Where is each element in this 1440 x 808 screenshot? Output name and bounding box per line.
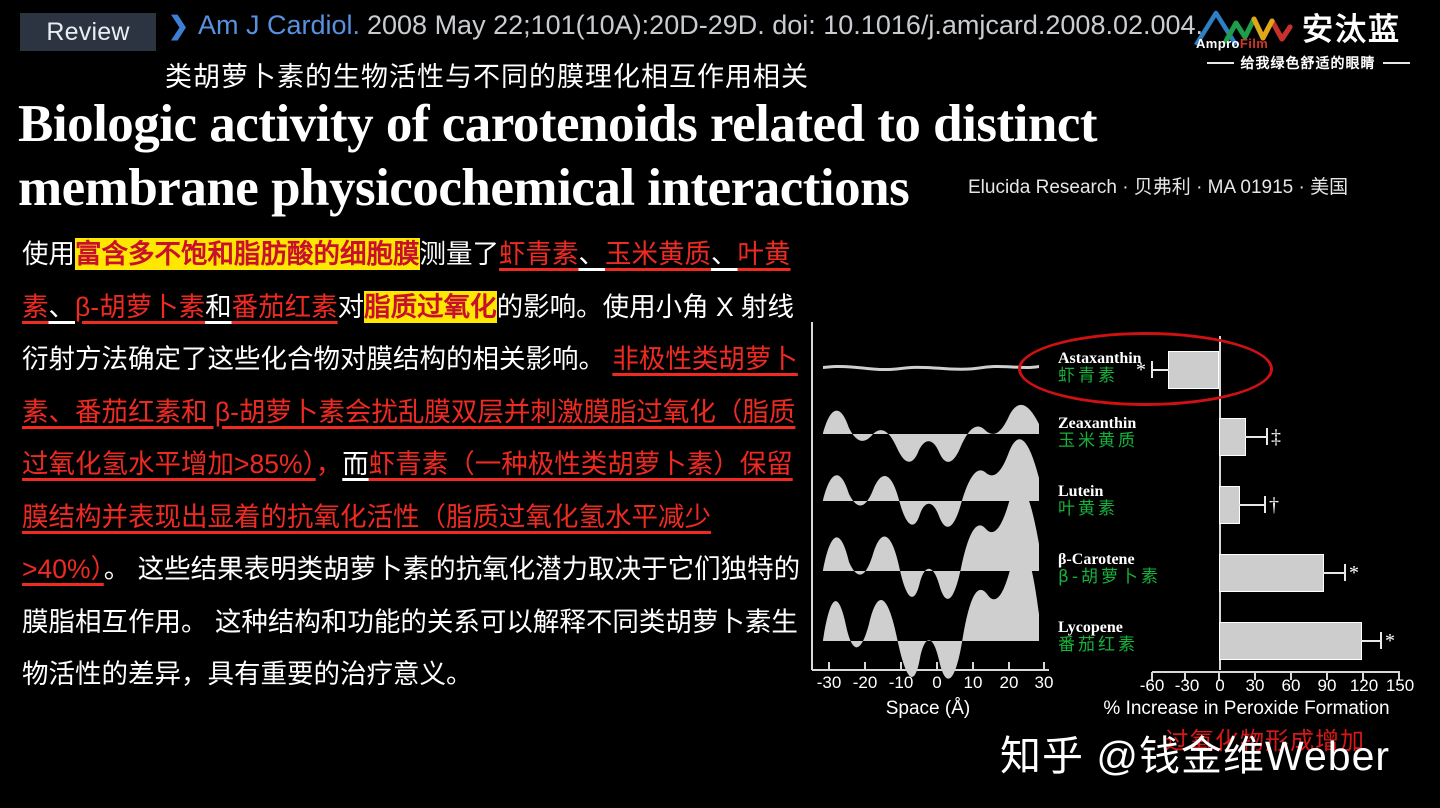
xrd-tick--30: -30	[817, 673, 842, 693]
journal-name[interactable]: Am J Cardiol.	[198, 10, 360, 41]
abstract-and: 和	[205, 292, 232, 322]
errorbar-zeaxanthin	[1245, 436, 1267, 438]
xrd-profiles-svg	[803, 318, 1053, 718]
xrd-x-axis-label: Space (Å)	[803, 698, 1053, 720]
xrd-tick-20: 20	[1000, 673, 1019, 693]
abstract-seg-2: 测量了	[420, 239, 500, 269]
highlight-pufa-membrane: 富含多不饱和脂肪酸的细胞膜	[75, 238, 420, 270]
category-label-lycopene: Lycopene 番茄红素	[1058, 620, 1138, 655]
bar-tick-150: 150	[1386, 676, 1414, 696]
chevron-right-icon: ❯	[168, 11, 189, 41]
logo-tagline: 给我绿色舒适的眼睛	[1182, 53, 1434, 73]
citation-detail: 2008 May 22;101(10A):20D-29D. doi: 10.10…	[367, 10, 1203, 41]
category-label-astaxanthin: Astaxanthin 虾青素	[1058, 351, 1142, 386]
affiliation: Elucida Research · 贝弗利 · MA 01915 · 美国	[968, 172, 1348, 199]
errorbar-lutein	[1239, 504, 1265, 506]
citation-line: ❯ Am J Cardiol. 2008 May 22;101(10A):20D…	[168, 10, 1203, 41]
errorcap-lycopene	[1380, 632, 1382, 649]
peroxide-bar-chart: * ‡ † * * Astaxanthin 虾青素	[1053, 318, 1440, 718]
errorcap-astaxanthin	[1151, 361, 1153, 378]
category-cn-beta-carotene: β-胡萝卜素	[1058, 569, 1161, 587]
ampro-mountain-icon: AmproFilm	[1190, 5, 1298, 51]
bar-tick-120: 120	[1350, 676, 1378, 696]
compound-zeaxanthin: 玉米黄质	[605, 239, 711, 269]
bar-x-axis-label: % Increase in Peroxide Formation	[1053, 698, 1440, 720]
abstract-conjunction-er: 而	[342, 449, 369, 479]
brand-logo: AmproFilm 安汰蓝 给我绿色舒适的眼睛	[1182, 3, 1434, 75]
errorcap-zeaxanthin	[1266, 428, 1268, 445]
xrd-profiles-chart: -30 -20 -10 0 10 20 30 Space (Å)	[803, 318, 1053, 718]
significance-lycopene: *	[1385, 630, 1395, 653]
errorbar-beta-carotene	[1323, 572, 1345, 574]
bar-tick-60: 60	[1282, 676, 1301, 696]
abstract-sep-2: 、	[711, 239, 738, 269]
errorcap-lutein	[1264, 496, 1266, 513]
chinese-title: 类胡萝卜素的生物活性与不同的膜理化相互作用相关	[165, 55, 809, 94]
highlight-lipid-peroxidation: 脂质过氧化	[364, 291, 497, 323]
compound-lycopene: 番茄红素	[232, 292, 338, 322]
tagline-text: 给我绿色舒适的眼睛	[1241, 53, 1376, 73]
tagline-rule-right	[1383, 62, 1410, 64]
logo-word-ampro: Ampro	[1196, 36, 1240, 51]
category-cn-astaxanthin: 虾青素	[1058, 368, 1142, 386]
figure-panel: -30 -20 -10 0 10 20 30 Space (Å) * ‡	[803, 318, 1440, 738]
abstract-seg-6: 这些结果表明类胡萝卜素的抗氧化潜力取决于它们独特的膜脂相互作用。 这种结构和功能…	[22, 554, 800, 689]
errorbar-lycopene	[1361, 640, 1381, 642]
significance-lutein: †	[1269, 494, 1279, 517]
bar-lutein	[1219, 486, 1240, 524]
compound-beta-carotene: β-胡萝卜素	[75, 292, 205, 322]
bar-astaxanthin	[1168, 351, 1219, 389]
xrd-tick-30: 30	[1035, 673, 1054, 693]
bar-tick-90: 90	[1318, 676, 1337, 696]
category-label-beta-carotene: β-Carotene β-胡萝卜素	[1058, 552, 1161, 587]
tagline-rule-left	[1207, 62, 1234, 64]
logo-row: AmproFilm 安汰蓝	[1190, 5, 1401, 51]
bar-tick--60: -60	[1140, 676, 1165, 696]
xrd-tick--20: -20	[853, 673, 878, 693]
bar-tick-30: 30	[1246, 676, 1265, 696]
logo-word-film: Film	[1240, 36, 1268, 51]
bar-tick--30: -30	[1175, 676, 1200, 696]
bar-tick-0: 0	[1215, 676, 1224, 696]
xrd-tick-10: 10	[964, 673, 983, 693]
significance-beta-carotene: *	[1349, 562, 1359, 585]
xrd-tick--10: -10	[889, 673, 914, 693]
category-label-zeaxanthin: Zeaxanthin 玉米黄质	[1058, 416, 1138, 451]
abstract-body: 使用富含多不饱和脂肪酸的细胞膜测量了虾青素、玉米黄质、叶黄素、β-胡萝卜素和番茄…	[22, 228, 812, 701]
category-cn-lycopene: 番茄红素	[1058, 637, 1138, 655]
logo-wordmark: AmproFilm	[1196, 36, 1268, 51]
abstract-sep-3: 、	[49, 292, 76, 322]
category-label-lutein: Lutein 叶黄素	[1058, 484, 1118, 519]
abstract-seg-4: 的影响。	[497, 292, 603, 322]
watermark: 知乎 @钱金维Weber	[1000, 722, 1390, 782]
errorbar-astaxanthin	[1152, 369, 1169, 371]
page-title: Biologic activity of carotenoids related…	[18, 92, 1198, 220]
abstract-seg-1: 使用	[22, 239, 75, 269]
bar-beta-carotene	[1219, 554, 1324, 592]
compound-astaxanthin: 虾青素	[499, 239, 579, 269]
abstract-period: 。	[104, 554, 131, 584]
logo-brand-cn: 安汰蓝	[1302, 13, 1401, 47]
abstract-comma: ，	[316, 449, 343, 479]
abstract-seg-3: 对	[338, 292, 365, 322]
significance-zeaxanthin: ‡	[1271, 426, 1281, 449]
xrd-tick-0: 0	[932, 673, 941, 693]
errorcap-beta-carotene	[1344, 564, 1346, 581]
category-cn-lutein: 叶黄素	[1058, 501, 1118, 519]
abstract-sep-1: 、	[579, 239, 606, 269]
bar-zeaxanthin	[1219, 418, 1246, 456]
slide-root: Review ❯ Am J Cardiol. 2008 May 22;101(1…	[0, 0, 1440, 808]
review-badge: Review	[20, 13, 156, 51]
bar-lycopene	[1219, 622, 1362, 660]
category-cn-zeaxanthin: 玉米黄质	[1058, 433, 1138, 451]
